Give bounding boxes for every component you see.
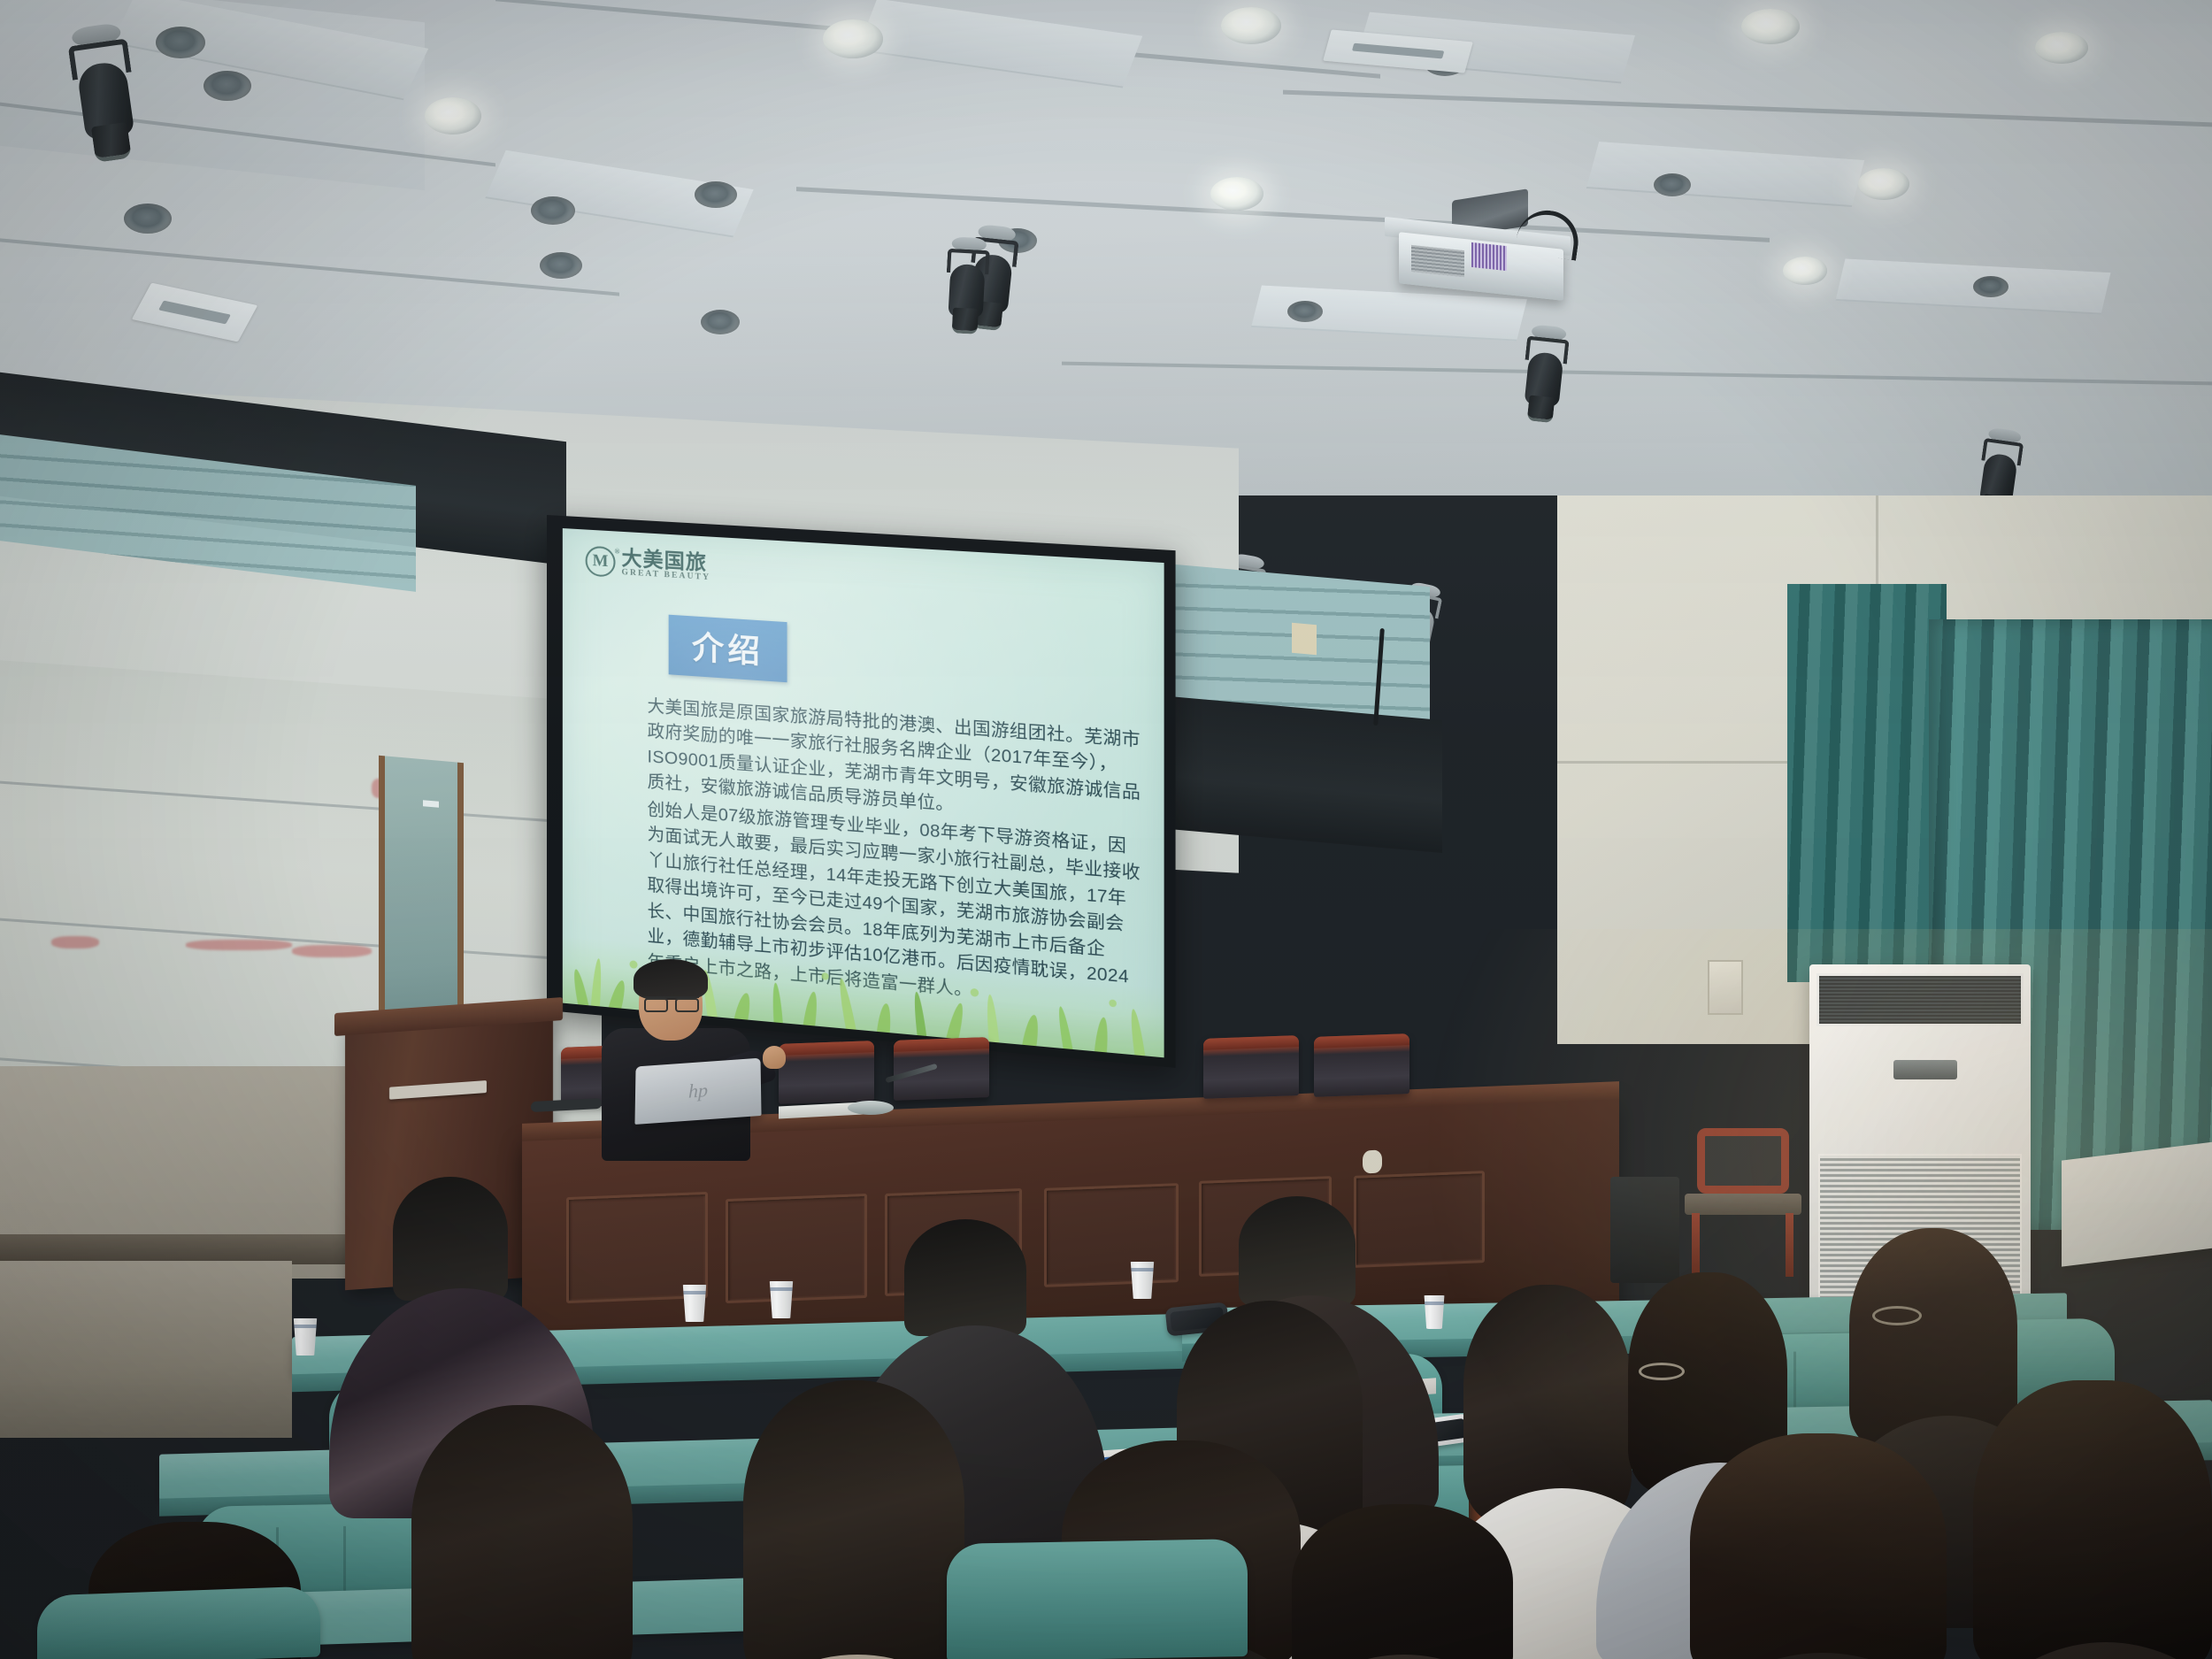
logo-mark-icon: M ® (586, 546, 616, 578)
ac-intake-grille (1816, 973, 2024, 1026)
slide-title-box: 介绍 (669, 615, 787, 683)
ac-display-panel[interactable] (1893, 1060, 1957, 1079)
lecture-hall-photo: M ® 大美国旅 GREAT BEAUTY 介绍 大美国旅是原国家旅游局特批的港… (0, 0, 2212, 1659)
paper-cup[interactable] (1129, 1262, 1156, 1299)
soffit-band (1159, 695, 1442, 853)
wall-scuff (292, 945, 372, 957)
ceiling-downlight-off (695, 181, 737, 208)
dais-chair (1314, 1033, 1409, 1097)
ceiling-downlight (823, 19, 883, 58)
logo-text-block: 大美国旅 GREAT BEAUTY (622, 548, 711, 582)
glasses-icon (1872, 1306, 1922, 1325)
lecturer-hand (763, 1046, 786, 1069)
paper-cup[interactable] (292, 1318, 319, 1356)
paper-cup[interactable] (1423, 1295, 1446, 1329)
ceiling-downlight-off (1287, 301, 1323, 322)
paper-cup[interactable] (681, 1285, 708, 1322)
ceiling-downlight-off (124, 204, 172, 234)
ceiling-downlight (1783, 257, 1827, 285)
window-curtain (1787, 584, 1947, 982)
registered-trademark-icon: ® (615, 547, 620, 555)
stage-front-face (0, 1261, 292, 1438)
laptop-brand-logo: hp (688, 1079, 708, 1102)
wall-outlet (1292, 623, 1317, 655)
dais-panel (726, 1194, 867, 1303)
presenter-laptop: hp (634, 1058, 761, 1125)
wall-scuff (51, 936, 99, 949)
logo-mark-glyph: M (593, 551, 609, 572)
ceiling-downlight-off (701, 310, 740, 334)
waste-bin (1610, 1177, 1679, 1283)
slide-title: 介绍 (692, 629, 764, 670)
pilaster-highlight (423, 800, 439, 808)
dais-chair (779, 1041, 874, 1104)
glasses-icon (1639, 1363, 1685, 1380)
ceiling-downlight (1221, 7, 1281, 44)
ceiling-downlight-off (156, 27, 205, 58)
dais-panel (1354, 1171, 1485, 1268)
desk-microphone-base (848, 1101, 894, 1115)
student-seat (37, 1586, 320, 1659)
ceiling-downlight-off (204, 71, 251, 101)
wall-scuff (186, 940, 292, 950)
side-chair (1681, 1128, 1805, 1279)
ceiling-downlight-off (1654, 173, 1691, 196)
ceiling-downlight-off (540, 252, 582, 279)
ceiling-downlight (425, 97, 481, 134)
wall-switch-plate (1708, 960, 1743, 1015)
company-logo: M ® 大美国旅 GREAT BEAUTY (586, 546, 711, 584)
ceiling-downlight (1741, 9, 1800, 44)
stage-edge (0, 1234, 372, 1264)
ceiling-downlight-off (1973, 276, 2008, 297)
glasses-icon (644, 996, 699, 1007)
side-table (2062, 1140, 2212, 1266)
ceiling-downlight (1858, 168, 1909, 200)
dais-chair (894, 1037, 989, 1101)
lecturer-hair (634, 959, 708, 1000)
student-seat (947, 1539, 1248, 1659)
ceiling-downlight (1210, 177, 1263, 211)
ceiling-downlight-off (531, 196, 575, 225)
dais-chair (1203, 1035, 1299, 1099)
paper-cup[interactable] (768, 1281, 795, 1318)
dais-panel (1044, 1183, 1179, 1287)
ceiling-downlight (2035, 32, 2088, 64)
dais-label (1363, 1150, 1382, 1174)
